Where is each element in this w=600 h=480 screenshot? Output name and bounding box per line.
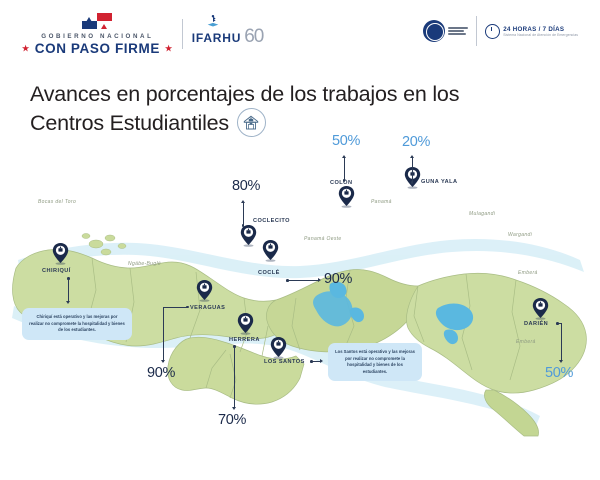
province-label-darien: DARIÉN <box>524 321 548 327</box>
leader-cocle <box>288 280 318 281</box>
region-label-wargandi: Wargandi <box>508 232 532 238</box>
province-label-coclecito: COCLECITO <box>253 218 290 224</box>
province-label-guna-yala: GUNA YALA <box>421 179 457 185</box>
hours-sub-text: Sistema Nacional de Atención de Emergenc… <box>503 33 578 37</box>
panama-flag-icon <box>81 12 113 30</box>
arrow-chiriqui <box>66 301 70 304</box>
map-pin-veraguas[interactable] <box>196 280 213 302</box>
leader-guna-yala <box>412 158 413 182</box>
header-bar: GOBIERNO NACIONAL ★ CON PASO FIRME ★ IFA… <box>0 0 600 62</box>
title-line-2: Centros Estudiantiles <box>30 109 229 137</box>
province-label-cocle: COCLÉ <box>258 270 280 276</box>
province-label-veraguas: VERAGUAS <box>190 305 225 311</box>
leader-veraguas-h <box>163 307 187 308</box>
leader-los-santos <box>312 361 320 362</box>
government-logo-group: GOBIERNO NACIONAL ★ CON PASO FIRME ★ IFA… <box>22 12 263 56</box>
province-label-chiriqui: CHIRIQUÍ <box>42 268 71 274</box>
leader-coclecito <box>243 203 244 225</box>
panama-map <box>0 140 600 440</box>
leader-veraguas-v <box>163 307 164 362</box>
arrow-guna-yala <box>410 155 414 158</box>
ifarhu-anniversary: 60 <box>244 29 263 44</box>
agency-name-placeholder <box>448 27 468 35</box>
logo-divider <box>182 19 183 49</box>
map-pin-herrera[interactable] <box>237 313 254 335</box>
percentage-cocle: 90% <box>324 271 352 287</box>
province-label-los-santos: LOS SANTOS <box>264 359 305 365</box>
emergency-logo-group: 24 HORAS / 7 DÍAS Sistema Nacional de At… <box>423 16 578 46</box>
gobierno-nacional-logo: GOBIERNO NACIONAL ★ CON PASO FIRME ★ <box>22 12 173 56</box>
star-left-icon: ★ <box>22 45 30 53</box>
ifarhu-bird-book-icon <box>204 14 222 30</box>
percentage-herrera: 70% <box>218 412 246 428</box>
leader-colon <box>344 158 345 180</box>
title-line-1: Avances en porcentajes de los trabajos e… <box>30 80 570 108</box>
gob-top-text: GOBIERNO NACIONAL <box>22 33 173 40</box>
star-right-icon: ★ <box>165 45 173 53</box>
leader-darien-v <box>561 323 562 361</box>
map-pin-cocle[interactable] <box>262 240 279 262</box>
region-label-embera-north: Emberá <box>518 270 538 276</box>
map-pin-los-santos[interactable] <box>270 337 287 359</box>
arrow-los-santos <box>320 359 323 363</box>
map-pin-chiriqui[interactable] <box>52 243 69 265</box>
title-line-2-row: Centros Estudiantiles <box>30 108 570 137</box>
province-label-herrera: HERRERA <box>229 337 260 343</box>
leader-chiriqui <box>68 279 69 302</box>
region-label-mulagandi: Mulagandi <box>469 211 495 217</box>
map-pin-coclecito[interactable] <box>240 225 257 247</box>
arrow-colon <box>342 155 346 158</box>
callout-los-santos: Los Santos está operativo y las mejoras … <box>328 343 422 381</box>
callout-chiriqui: Chiriquí está operativo y las mejoras po… <box>22 308 132 340</box>
ifarhu-wordmark: IFARHU <box>192 31 241 45</box>
region-label-ngabe-bugle: Ngäbe-Buglé <box>128 261 161 267</box>
arrow-darien <box>559 360 563 363</box>
percentage-colon: 50% <box>332 133 360 149</box>
clock-icon <box>485 24 500 39</box>
arrow-cocle <box>318 278 321 282</box>
gob-main-label: CON PASO FIRME <box>35 41 160 56</box>
hours-main-text: 24 HORAS / 7 DÍAS <box>503 26 578 33</box>
map-pin-darien[interactable] <box>532 298 549 320</box>
region-label-embera-south: Emberá <box>516 339 536 345</box>
region-label-panama-oeste: Panamá Oeste <box>304 236 342 242</box>
school-building-icon <box>237 108 266 137</box>
region-label-panama: Panamá <box>371 199 392 205</box>
arrow-veraguas <box>161 360 165 363</box>
map-pin-colon[interactable] <box>338 186 355 208</box>
gob-main-text: ★ CON PASO FIRME ★ <box>22 41 173 56</box>
right-logo-divider <box>476 16 477 46</box>
region-label-bocas-del-toro: Bocas del Toro <box>38 199 76 205</box>
percentage-coclecito: 80% <box>232 178 260 194</box>
agency-seal-icon <box>423 20 445 42</box>
percentage-veraguas: 90% <box>147 365 175 381</box>
panama-map-svg <box>0 140 600 440</box>
page-title: Avances en porcentajes de los trabajos e… <box>30 80 570 137</box>
percentage-guna-yala: 20% <box>402 134 430 150</box>
arrow-herrera <box>232 407 236 410</box>
agency-seal-logo <box>423 20 468 42</box>
ifarhu-logo: IFARHU 60 <box>192 23 264 44</box>
percentage-darien: 50% <box>545 365 573 381</box>
leader-herrera <box>234 347 235 408</box>
arrow-coclecito <box>241 200 245 203</box>
hours-badge: 24 HORAS / 7 DÍAS Sistema Nacional de At… <box>485 24 578 39</box>
